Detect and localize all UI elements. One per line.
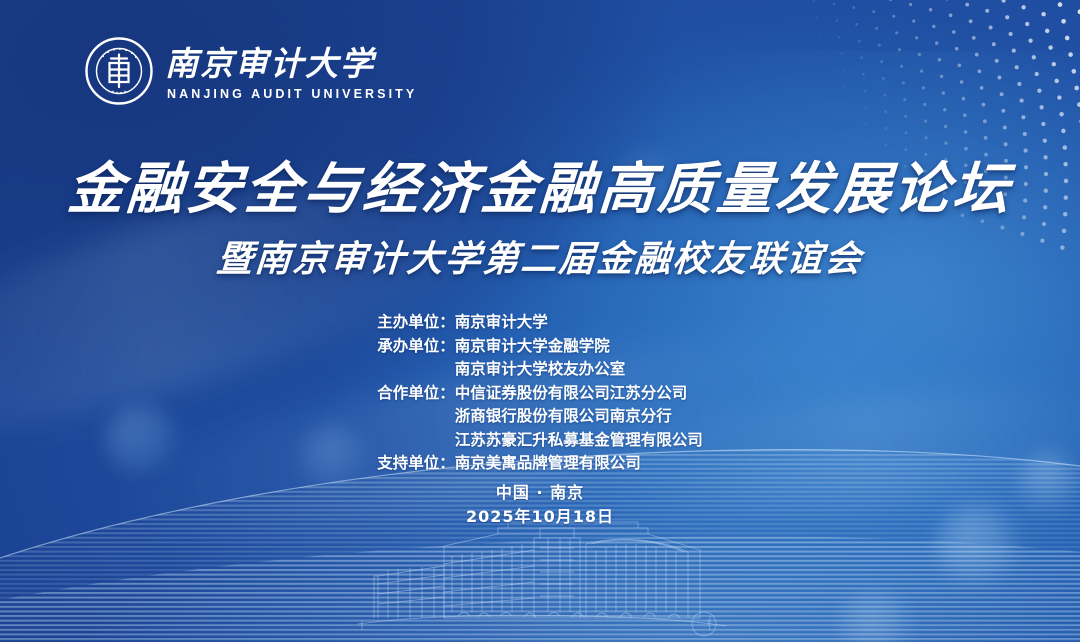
organizer-value: 中信证券股份有限公司江苏分公司 xyxy=(455,382,703,406)
event-location: 中国 · 南京 xyxy=(0,481,1080,505)
organizer-label: 承办单位： xyxy=(377,335,455,359)
organizer-label xyxy=(377,358,455,382)
organizer-value: 浙商银行股份有限公司南京分行 xyxy=(455,405,703,429)
organizer-row: 江苏苏豪汇升私募基金管理有限公司 xyxy=(377,429,703,453)
organizer-value: 南京美寓品牌管理有限公司 xyxy=(455,452,703,476)
poster-content: 南京审计大学 NANJING AUDIT UNIVERSITY 金融安全与经济金… xyxy=(0,0,1080,642)
university-name-en: NANJING AUDIT UNIVERSITY xyxy=(165,88,417,101)
university-seal-icon xyxy=(84,36,154,106)
organizer-label xyxy=(377,405,455,429)
organizer-row: 合作单位：中信证券股份有限公司江苏分公司 xyxy=(377,382,703,406)
organizer-value: 南京审计大学金融学院 xyxy=(455,335,703,359)
organizer-row: 主办单位：南京审计大学 xyxy=(377,311,703,335)
organizer-row: 承办单位：南京审计大学金融学院 xyxy=(377,335,703,359)
organizer-row: 浙商银行股份有限公司南京分行 xyxy=(377,405,703,429)
organizer-label: 合作单位： xyxy=(377,382,455,406)
event-meta: 中国 · 南京 2025年10月18日 xyxy=(0,481,1080,529)
organizer-label: 支持单位： xyxy=(377,452,455,476)
organizer-value: 南京审计大学校友办公室 xyxy=(455,358,703,382)
university-name-block: 南京审计大学 NANJING AUDIT UNIVERSITY xyxy=(165,42,417,101)
forum-title: 金融安全与经济金融高质量发展论坛 xyxy=(0,144,1080,225)
poster-canvas: 南京审计大学 NANJING AUDIT UNIVERSITY 金融安全与经济金… xyxy=(0,0,1080,642)
organizer-label xyxy=(377,429,455,453)
university-name-cn: 南京审计大学 xyxy=(165,42,375,86)
organizer-row: 南京审计大学校友办公室 xyxy=(377,358,703,382)
organizer-block: 主办单位：南京审计大学承办单位：南京审计大学金融学院南京审计大学校友办公室合作单… xyxy=(0,311,1080,476)
organizer-label: 主办单位： xyxy=(377,311,455,335)
organizer-row: 支持单位：南京美寓品牌管理有限公司 xyxy=(377,452,703,476)
organizer-table: 主办单位：南京审计大学承办单位：南京审计大学金融学院南京审计大学校友办公室合作单… xyxy=(377,311,703,476)
forum-subtitle: 暨南京审计大学第二届金融校友联谊会 xyxy=(0,230,1080,282)
organizer-value: 江苏苏豪汇升私募基金管理有限公司 xyxy=(455,429,703,453)
event-date: 2025年10月18日 xyxy=(0,505,1080,529)
university-logo: 南京审计大学 NANJING AUDIT UNIVERSITY xyxy=(84,36,417,106)
organizer-value: 南京审计大学 xyxy=(455,311,703,335)
